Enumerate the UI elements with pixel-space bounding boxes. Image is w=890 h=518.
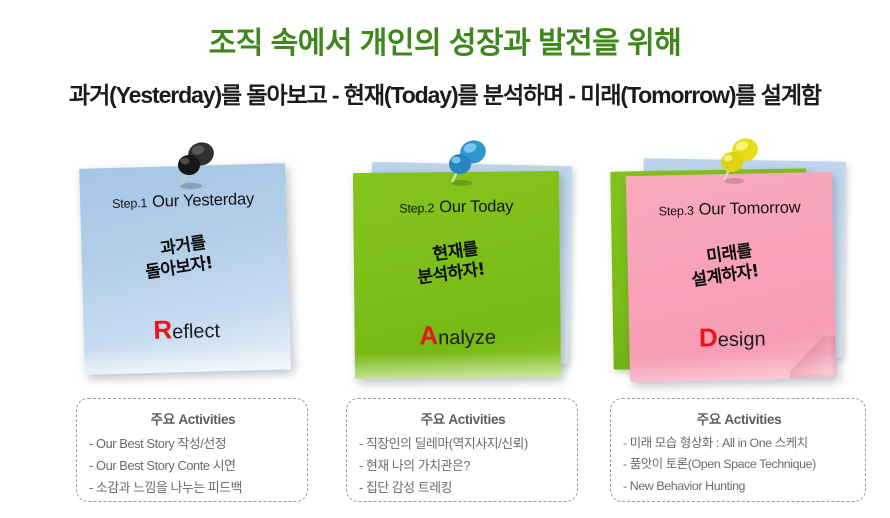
activity-item: - 직장인의 딜레마(역지사지/신뢰) — [359, 433, 567, 455]
activities-box-1: 주요 Activities - Our Best Story 작성/선정 - O… — [76, 398, 308, 502]
keyword-rest-3: esign — [718, 328, 766, 351]
step-column-tomorrow: Step.3Our Tomorrow 미래를 설계하자! Design 주요 A… — [602, 140, 874, 518]
note-step-line-2: Step.2Our Today — [353, 197, 559, 218]
activity-item: - 미래 모습 형상화 : All in One 스케치 — [623, 433, 855, 454]
handwritten-text-1: 과거를 돌아보자! — [80, 221, 290, 294]
activity-item: - New Behavior Hunting — [623, 476, 855, 497]
step-column-yesterday: Step.1Our Yesterday 과거를 돌아보자! Reflect 주요… — [62, 140, 334, 518]
sticky-note-today[interactable]: Step.2Our Today 현재를 분석하자! Analyze — [353, 171, 561, 379]
step-title-1: Our Yesterday — [152, 190, 254, 211]
keyword-capital-1: R — [153, 314, 173, 345]
activity-item: - Our Best Story 작성/선정 — [89, 433, 297, 455]
sticky-note-yesterday[interactable]: Step.1Our Yesterday 과거를 돌아보자! Reflect — [79, 163, 291, 375]
step-number-1: Step.1 — [112, 196, 147, 211]
activity-item: - Our Best Story Conte 시연 — [89, 455, 297, 477]
keyword-rest-1: eflect — [172, 320, 220, 343]
activities-title-2: 주요 Activities — [359, 408, 567, 428]
handwritten-text-3: 미래를 설계하자! — [626, 230, 836, 301]
keyword-3: Design — [629, 320, 836, 355]
activities-box-2: 주요 Activities - 직장인의 딜레마(역지사지/신뢰) - 현재 나… — [346, 398, 578, 502]
activity-item: - 품앗이 토론(Open Space Technique) — [623, 454, 855, 475]
handwritten-text-2: 현재를 분석하자! — [352, 229, 562, 298]
keyword-1: Reflect — [83, 311, 290, 348]
sticky-note-tomorrow[interactable]: Step.3Our Tomorrow 미래를 설계하자! Design — [626, 172, 836, 382]
activities-title-1: 주요 Activities — [89, 408, 297, 428]
activities-title-3: 주요 Activities — [623, 408, 855, 428]
note-step-line-3: Step.3Our Tomorrow — [626, 198, 832, 221]
slide-header: 조직 속에서 개인의 성장과 발전을 위해 과거(Yesterday)를 돌아보… — [0, 0, 890, 118]
step-column-today: Step.2Our Today 현재를 분석하자! Analyze 주요 Act… — [332, 140, 604, 518]
activity-item: - 소감과 느낌을 나누는 피드백 — [89, 477, 297, 499]
activity-item: - 집단 감성 트레킹 — [359, 477, 567, 499]
page-subtitle: 과거(Yesterday)를 돌아보고 - 현재(Today)를 분석하며 - … — [0, 62, 890, 110]
activity-item: - 현재 나의 가치관은? — [359, 455, 567, 477]
step-title-3: Our Tomorrow — [698, 199, 800, 219]
keyword-capital-3: D — [699, 322, 718, 352]
step-title-2: Our Today — [439, 197, 513, 216]
keyword-2: Analyze — [354, 319, 560, 352]
sticky-note-stack-2: Step.2Our Today 현재를 분석하자! Analyze — [332, 140, 604, 390]
step-number-3: Step.3 — [659, 204, 694, 219]
step-number-2: Step.2 — [399, 201, 434, 215]
page-title: 조직 속에서 개인의 성장과 발전을 위해 — [0, 0, 890, 62]
note-step-line-1: Step.1Our Yesterday — [80, 189, 286, 214]
keyword-capital-2: A — [419, 320, 438, 350]
sticky-note-stack-3: Step.3Our Tomorrow 미래를 설계하자! Design — [602, 140, 874, 390]
sticky-note-stack-1: Step.1Our Yesterday 과거를 돌아보자! Reflect — [62, 140, 334, 390]
activities-box-3: 주요 Activities - 미래 모습 형상화 : All in One 스… — [610, 398, 866, 502]
keyword-rest-2: nalyze — [438, 327, 496, 350]
